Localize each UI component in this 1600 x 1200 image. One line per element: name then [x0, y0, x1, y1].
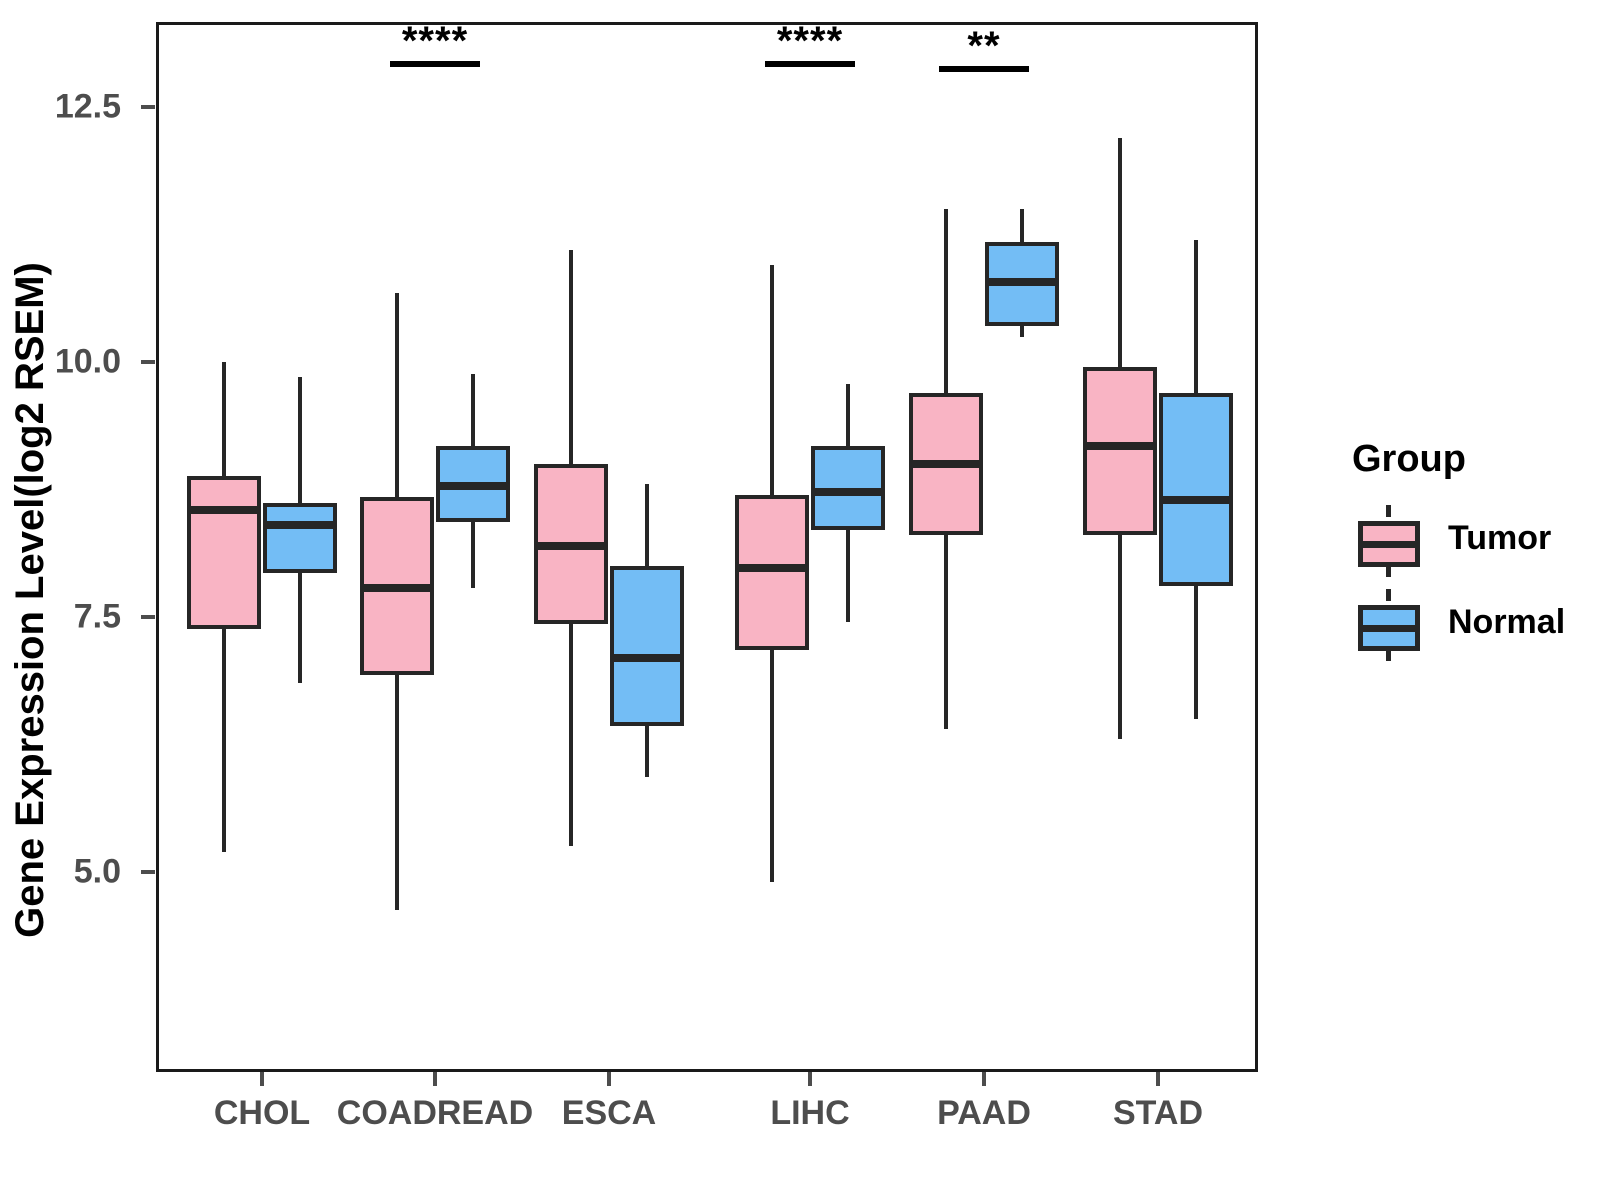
legend-entries: TumorNormal	[1322, 507, 1592, 665]
legend-key-whisker-bottom	[1386, 565, 1391, 577]
legend-key-whisker-top	[1386, 589, 1391, 601]
legend-key-median	[1358, 541, 1420, 548]
significance-stars: **	[967, 26, 1000, 66]
legend-key-median	[1358, 625, 1420, 632]
legend-key-whisker-top	[1386, 505, 1391, 517]
legend-item-label: Normal	[1448, 603, 1565, 642]
boxplot-iqr	[1159, 393, 1233, 587]
y-tick-mark	[141, 360, 155, 364]
legend-title: Group	[1352, 438, 1592, 481]
significance-stars: ****	[402, 21, 468, 61]
boxplot-box	[156, 22, 1258, 1072]
legend: Group TumorNormal	[1322, 438, 1592, 675]
y-tick-label: 10.0	[11, 343, 121, 382]
x-tick-label: STAD	[1113, 1094, 1203, 1133]
legend-item-label: Tumor	[1448, 519, 1551, 558]
significance-stars: ****	[777, 21, 843, 61]
x-tick-label: ESCA	[562, 1094, 656, 1133]
x-tick-label: CHOL	[214, 1094, 310, 1133]
plot-area: **********	[156, 22, 1258, 1072]
x-tick-mark	[260, 1072, 264, 1086]
x-tick-mark	[607, 1072, 611, 1086]
x-tick-mark	[433, 1072, 437, 1086]
x-tick-label: COADREAD	[337, 1094, 533, 1133]
y-tick-mark	[141, 615, 155, 619]
y-tick-mark	[141, 870, 155, 874]
chart-root: Gene Expression Level(log2 RSEM) *******…	[0, 0, 1600, 1200]
y-tick-label: 5.0	[11, 853, 121, 892]
legend-key-whisker-bottom	[1386, 649, 1391, 661]
legend-item-normal[interactable]: Normal	[1322, 591, 1592, 665]
x-tick-mark	[1156, 1072, 1160, 1086]
y-tick-label: 12.5	[11, 88, 121, 127]
x-tick-label: LIHC	[770, 1094, 849, 1133]
y-tick-mark	[141, 105, 155, 109]
legend-key-glyph	[1358, 511, 1420, 577]
x-tick-mark	[808, 1072, 812, 1086]
x-tick-mark	[982, 1072, 986, 1086]
boxplot-median	[1159, 496, 1233, 504]
x-tick-label: PAAD	[937, 1094, 1031, 1133]
y-tick-label: 7.5	[11, 598, 121, 637]
legend-item-tumor[interactable]: Tumor	[1322, 507, 1592, 581]
legend-key-glyph	[1358, 595, 1420, 661]
